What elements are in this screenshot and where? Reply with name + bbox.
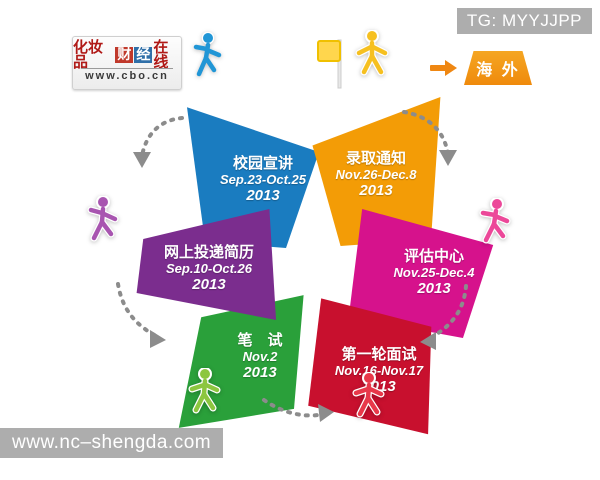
segment-campus-text: 校园宣讲 Sep.23-Oct.25 2013 <box>220 155 306 206</box>
flow-arrow-resume-to-campus <box>120 112 190 172</box>
segment-campus-year: 2013 <box>246 187 279 205</box>
segment-campus-dates: Sep.23-Oct.25 <box>220 172 306 188</box>
segment-resume-dates: Sep.10-Oct.26 <box>166 261 252 277</box>
flow-arrow-assessment-to-interview <box>410 284 482 350</box>
flow-arrow-resume-to-written <box>108 282 178 348</box>
segment-written-exam-text: 笔 试 Nov.2 2013 <box>237 332 282 383</box>
runner-figure-blue <box>190 32 224 78</box>
logo-box-red: 财 <box>115 47 133 63</box>
segment-assessment-title: 评估中心 <box>404 248 464 265</box>
segment-interview-title: 第一轮面试 <box>341 346 416 363</box>
runner-figure-yellow <box>355 30 389 76</box>
logo-text-before: 化妆品 <box>73 40 114 70</box>
segment-assessment-dates: Nov.25-Dec.4 <box>394 265 475 281</box>
logo-wordmark: 化妆品 财 经 在线 <box>73 44 181 66</box>
runner-figure-pink <box>478 198 512 244</box>
segment-written-exam-year: 2013 <box>243 364 276 382</box>
infographic-canvas: 化妆品 财 经 在线 www.cbo.cn 海 外 校园宣讲 Sep.23-Oc… <box>0 0 600 480</box>
segment-written-exam-title: 笔 试 <box>237 332 282 349</box>
segment-written-exam-dates: Nov.2 <box>243 349 278 365</box>
logo-box-blue: 经 <box>134 47 152 63</box>
runner-figure-green <box>188 368 222 414</box>
flag-icon <box>316 38 360 90</box>
logo-divider <box>81 68 173 69</box>
flow-arrow-offer-to-assessment <box>398 108 470 170</box>
segment-resume-title: 网上投递简历 <box>164 244 254 261</box>
watermark-bottom-left: www.nc–shengda.com <box>0 428 223 458</box>
flow-arrow-written-to-interview <box>262 392 338 426</box>
watermark-top-right: TG: MYYJJPP <box>457 8 592 34</box>
runner-figure-purple <box>86 196 120 242</box>
segment-offer-title: 录取通知 <box>346 150 406 167</box>
runner-figure-red <box>352 372 386 418</box>
logo-text-after: 在线 <box>153 40 181 70</box>
segment-offer-year: 2013 <box>359 182 392 200</box>
segment-resume-year: 2013 <box>192 276 225 294</box>
segment-campus-title: 校园宣讲 <box>233 155 293 172</box>
